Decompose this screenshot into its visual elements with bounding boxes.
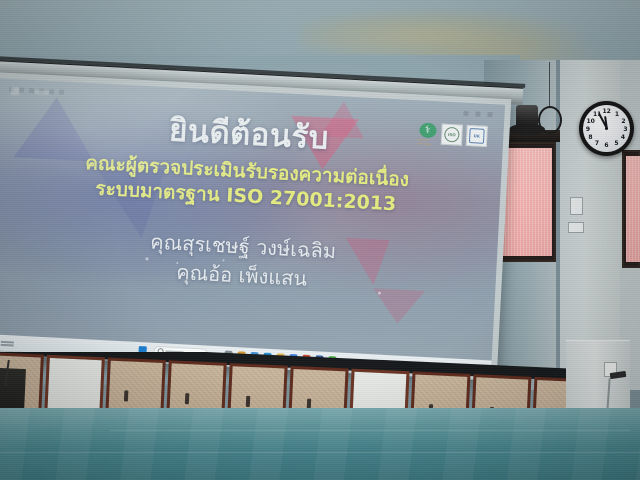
- close-icon[interactable]: [487, 111, 492, 116]
- window-curtain-right: [626, 156, 640, 262]
- weather-icon[interactable]: [0, 339, 14, 347]
- floor: [0, 408, 640, 480]
- panel-latch: [123, 391, 127, 402]
- clock-number-2: 2: [620, 118, 628, 126]
- room-photo-scene: 12 1 2 3 4 5 6 7 8 9 10 11: [0, 0, 640, 480]
- panel-latch: [184, 393, 188, 404]
- clock-number-9: 9: [584, 126, 592, 134]
- slide-names: คุณสุรเชษฐ์ วงษ์เฉลิม คุณอ้อ เพ็งแสน: [0, 219, 498, 304]
- window-controls[interactable]: [463, 110, 492, 117]
- wall-clock: 12 1 2 3 4 5 6 7 8 9 10 11: [579, 101, 634, 156]
- desktop-icon-label: [35, 90, 49, 95]
- clock-number-3: 3: [622, 126, 630, 134]
- clock-number-6: 6: [603, 142, 611, 150]
- maximize-icon[interactable]: [475, 111, 480, 116]
- light-switch-plate[interactable]: [570, 197, 583, 215]
- clock-number-5: 5: [613, 140, 621, 148]
- clock-number-10: 10: [587, 118, 595, 126]
- projected-slide: ⚕ กระทรวงสาธารณสุข ISO UK ยินดีต้อนรับ ค…: [0, 78, 505, 376]
- speaker-hanging-wire: [549, 62, 550, 108]
- weather-text: [1, 340, 14, 346]
- gear-icon[interactable]: [49, 89, 54, 94]
- window-curtain-left: [502, 148, 552, 256]
- clock-number-8: 8: [587, 134, 595, 142]
- chevron-down-icon[interactable]: [59, 89, 64, 94]
- clock-number-12: 12: [603, 108, 611, 116]
- slide-text-block: ยินดีต้อนรับ คณะผู้ตรวจประเมินรับรองความ…: [0, 104, 504, 303]
- clock-face: 12 1 2 3 4 5 6 7 8 9 10 11: [583, 105, 630, 152]
- wall-socket-plate[interactable]: [568, 222, 584, 233]
- clock-center-pin: [605, 127, 608, 130]
- floor-seam: [110, 430, 630, 431]
- taskbar-weather-widget[interactable]: [0, 339, 14, 347]
- floor-seam: [0, 452, 640, 453]
- panel-latch: [245, 396, 249, 407]
- speaker-base: [509, 124, 545, 135]
- projector-screen: ⚕ กระทรวงสาธารณสุข ISO UK ยินดีต้อนรับ ค…: [0, 72, 511, 381]
- recycle-bin-icon[interactable]: [11, 87, 19, 95]
- minimize-icon[interactable]: [463, 110, 468, 115]
